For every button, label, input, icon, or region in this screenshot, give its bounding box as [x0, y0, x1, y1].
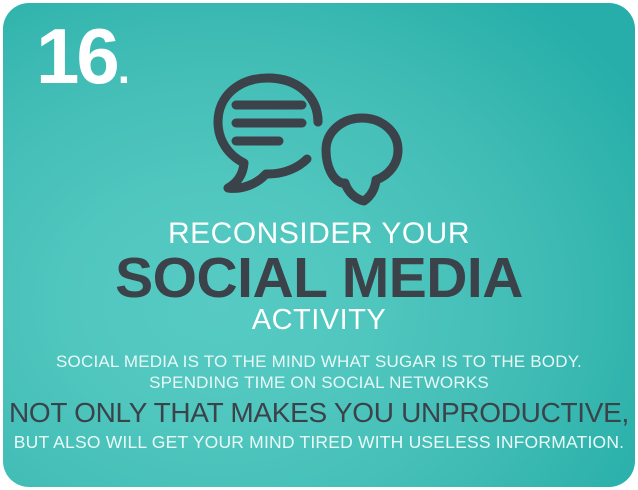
body-line-1: SOCIAL MEDIA IS TO THE MIND WHAT SUGAR I…	[3, 351, 635, 372]
body-block: SOCIAL MEDIA IS TO THE MIND WHAT SUGAR I…	[3, 351, 635, 453]
tip-card: 16. RECONSIDER YOUR SOCIAL MEDIA ACTIVIT…	[3, 3, 635, 487]
headline-block: RECONSIDER YOUR SOCIAL MEDIA ACTIVITY	[3, 217, 635, 336]
headline-subhead: ACTIVITY	[3, 304, 635, 336]
number-badge-value: 16	[36, 12, 117, 100]
chat-bubbles-icon	[209, 23, 409, 213]
body-emphasis-line: NOT ONLY THAT MAKES YOU UNPRODUCTIVE,	[3, 397, 635, 429]
body-line-3: BUT ALSO WILL GET YOUR MIND TIRED WITH U…	[3, 431, 635, 453]
body-line-2: SPENDING TIME ON SOCIAL NETWORKS	[3, 372, 635, 393]
page-title: SOCIAL MEDIA	[3, 248, 635, 308]
number-badge: 16.	[36, 17, 127, 95]
number-badge-dot: .	[118, 44, 127, 93]
